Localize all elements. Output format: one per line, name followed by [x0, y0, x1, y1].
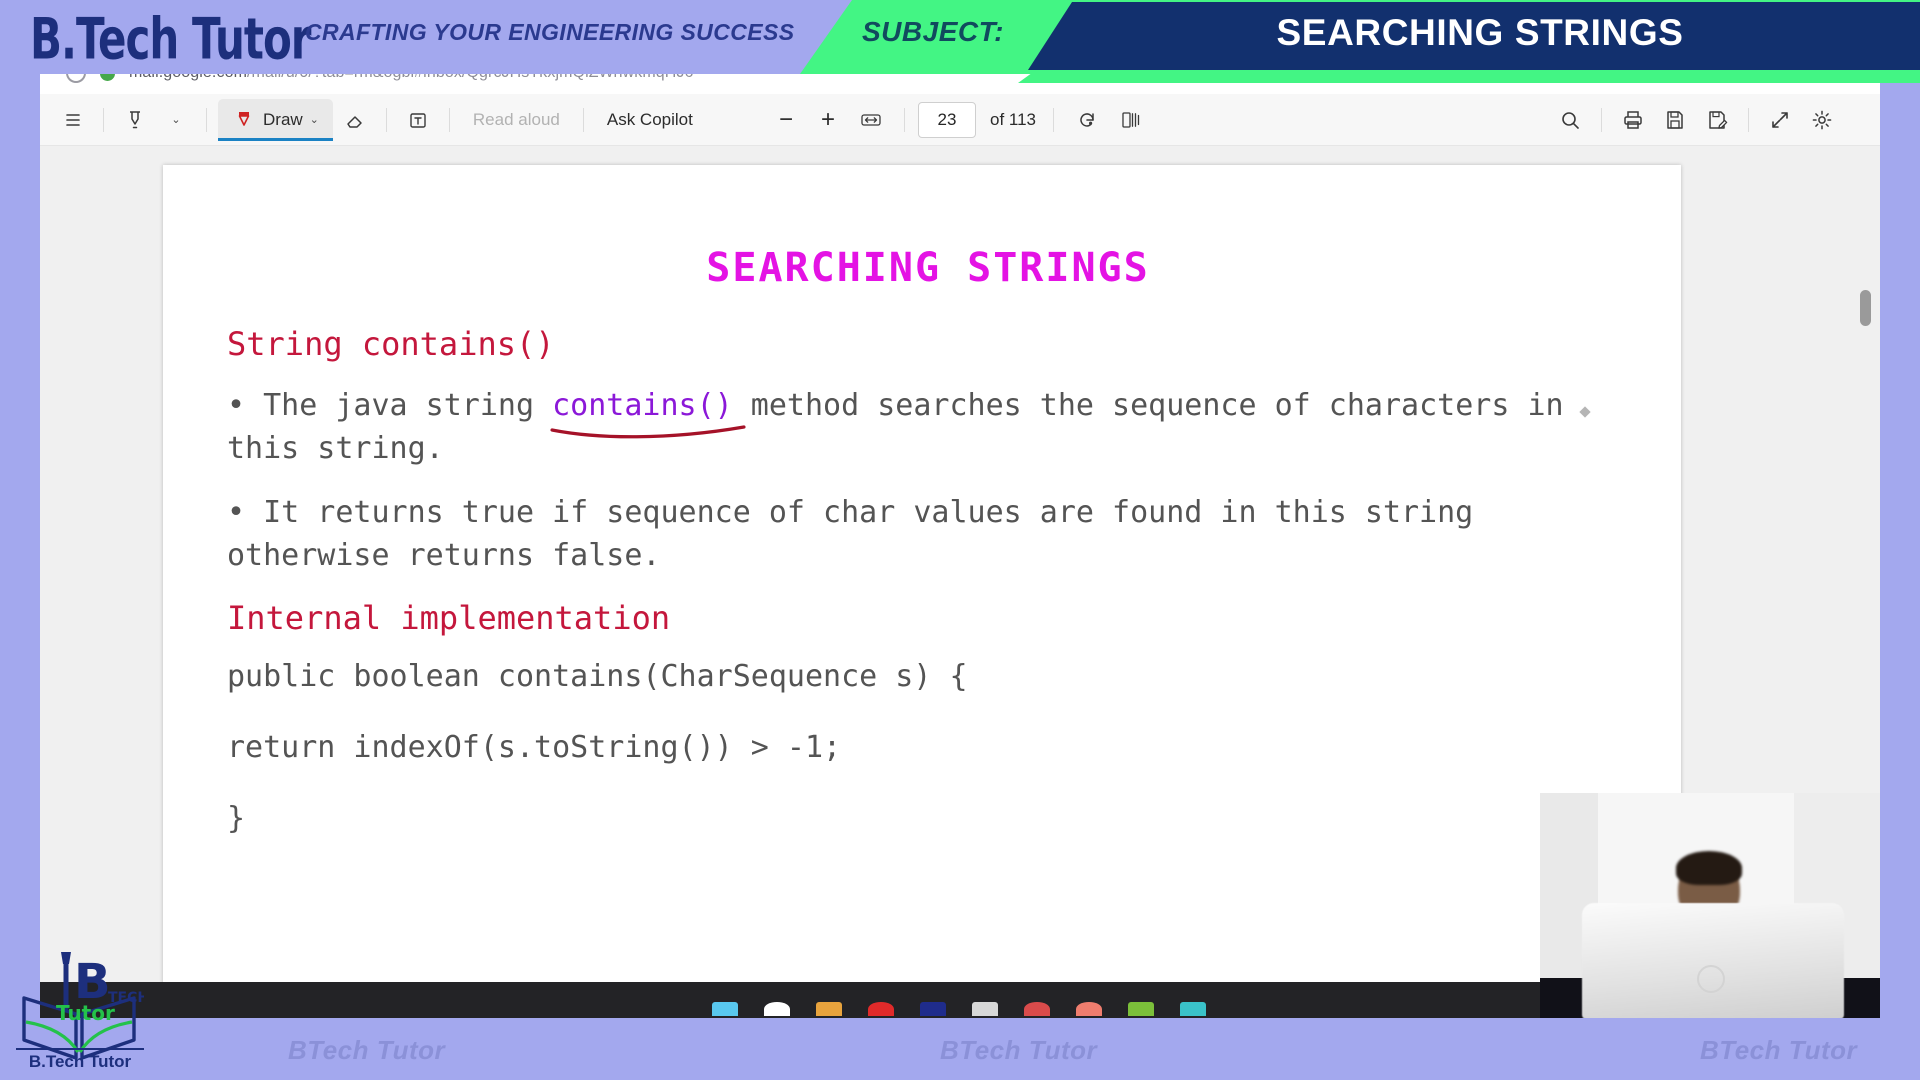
ask-copilot-label: Ask Copilot	[607, 110, 693, 130]
print-button[interactable]	[1613, 101, 1653, 139]
read-aloud-button[interactable]: Read aloud	[461, 101, 572, 139]
read-aloud-label: Read aloud	[473, 110, 560, 130]
divider	[583, 108, 584, 132]
pdf-page: SEARCHING STRINGS String contains() • Th…	[163, 165, 1681, 1018]
fullscreen-button[interactable]	[1760, 101, 1800, 139]
laptop-lid	[1582, 903, 1844, 1018]
menu-button[interactable]	[54, 101, 92, 139]
rotate-icon	[1075, 108, 1099, 132]
subject-title: SEARCHING STRINGS	[1100, 12, 1860, 54]
chevron-down-icon: ⌄	[171, 113, 180, 126]
watermark-bottom-1: BTech Tutor	[288, 1035, 445, 1066]
fit-to-width-icon	[859, 110, 883, 130]
page-total-label: of 113	[990, 110, 1036, 130]
code-line-2: return indexOf(s.toString()) > -1;	[227, 730, 1629, 765]
page-view-icon	[1119, 108, 1143, 132]
section-heading-1: String contains()	[227, 325, 1629, 363]
bullet-2: • It returns true if sequence of char va…	[227, 492, 1629, 577]
divider	[1748, 108, 1749, 132]
draw-tool-button[interactable]: Draw ⌄	[218, 99, 333, 141]
ink-annotation-underline	[548, 425, 748, 441]
chevron-down-icon: ⌄	[310, 113, 319, 126]
presenter-hair	[1676, 851, 1742, 885]
taskbar-icon-app-red[interactable]	[868, 1002, 894, 1016]
divider	[904, 108, 905, 132]
menu-icon	[64, 111, 82, 129]
code-line-3: }	[227, 801, 1629, 836]
taskbar-icon-folder[interactable]	[816, 1002, 842, 1016]
taskbar-icon-explorer[interactable]	[712, 1002, 738, 1016]
banner-green-underline	[1018, 70, 1920, 83]
divider	[1601, 108, 1602, 132]
watermark-bottom-3: BTech Tutor	[1700, 1035, 1857, 1066]
settings-button[interactable]	[1802, 101, 1842, 139]
logo-tutor-text: Tutor	[56, 1001, 115, 1025]
taskbar-icon-app-grey[interactable]	[972, 1002, 998, 1016]
save-as-icon	[1705, 108, 1729, 132]
fit-to-width-button[interactable]	[851, 101, 891, 139]
divider	[206, 108, 207, 132]
scrollbar-thumb[interactable]	[1860, 290, 1871, 326]
logo-caption: B.Tech Tutor	[12, 1052, 148, 1072]
page-view-button[interactable]	[1111, 101, 1151, 139]
save-as-button[interactable]	[1697, 101, 1737, 139]
ask-copilot-button[interactable]: Ask Copilot	[595, 101, 705, 139]
search-button[interactable]	[1550, 101, 1590, 139]
keyword-contains: contains()	[552, 385, 733, 428]
rotate-button[interactable]	[1067, 101, 1107, 139]
watermark-bottom-2: BTech Tutor	[940, 1035, 1097, 1066]
eraser-button[interactable]	[335, 101, 375, 139]
frame-right-rail	[1880, 0, 1920, 1080]
highlighter-button[interactable]	[115, 101, 155, 139]
section-heading-2: Internal implementation	[227, 599, 1629, 637]
search-icon	[1558, 108, 1582, 132]
minus-icon: −	[779, 108, 793, 132]
pdf-viewer-toolbar: ⌄ Draw ⌄	[36, 94, 1882, 146]
bullet-1-pre: • The java string	[227, 388, 552, 423]
taskbar-icon-edge[interactable]	[764, 1002, 790, 1016]
save-button[interactable]	[1655, 101, 1695, 139]
slide-title: SEARCHING STRINGS	[227, 245, 1629, 291]
bullet-1: • The java string contains() method sear…	[227, 385, 1629, 470]
brand-wordmark: B.Tech Tutor	[30, 6, 311, 72]
taskbar-icon-app-green[interactable]	[1128, 1002, 1154, 1016]
brand-tagline: CRAFTING YOUR ENGINEERING SUCCESS	[305, 19, 794, 46]
taskbar-icon-app-blue[interactable]	[920, 1002, 946, 1016]
page-number-input[interactable]: 23	[918, 102, 976, 138]
taskbar-icon-app-rose[interactable]	[1024, 1002, 1050, 1016]
divider	[386, 108, 387, 132]
page-number-value: 23	[938, 110, 957, 130]
code-line-1: public boolean contains(CharSequence s) …	[227, 659, 1629, 694]
gear-icon	[1810, 108, 1834, 132]
laptop-logo-icon	[1697, 965, 1725, 993]
channel-banner: B.Tech Tutor CRAFTING YOUR ENGINEERING S…	[0, 0, 1920, 74]
divider	[449, 108, 450, 132]
highlighter-options-button[interactable]: ⌄	[157, 101, 195, 139]
presenter-webcam-overlay	[1540, 793, 1882, 1018]
keyword-text: contains()	[552, 388, 733, 423]
eraser-icon	[343, 108, 367, 132]
pen-icon	[232, 108, 256, 132]
zoom-out-button[interactable]: −	[767, 101, 805, 139]
subject-label: SUBJECT:	[862, 16, 1004, 48]
text-box-icon	[406, 108, 430, 132]
draw-label: Draw	[263, 110, 303, 130]
text-box-button[interactable]	[398, 101, 438, 139]
divider	[103, 108, 104, 132]
highlighter-icon	[123, 108, 147, 132]
save-icon	[1663, 108, 1687, 132]
logo-divider	[16, 1048, 144, 1050]
divider	[1053, 108, 1054, 132]
frame-left-rail	[0, 0, 40, 1080]
screen-root: mail.google.com/mail/u/0/?tab=rm&ogbl#in…	[0, 0, 1920, 1080]
plus-icon: +	[821, 108, 835, 132]
taskbar-icon-app-salmon[interactable]	[1076, 1002, 1102, 1016]
fullscreen-icon	[1768, 108, 1792, 132]
taskbar-icon-app-teal[interactable]	[1180, 1002, 1206, 1016]
zoom-in-button[interactable]: +	[809, 101, 847, 139]
print-icon	[1621, 108, 1645, 132]
